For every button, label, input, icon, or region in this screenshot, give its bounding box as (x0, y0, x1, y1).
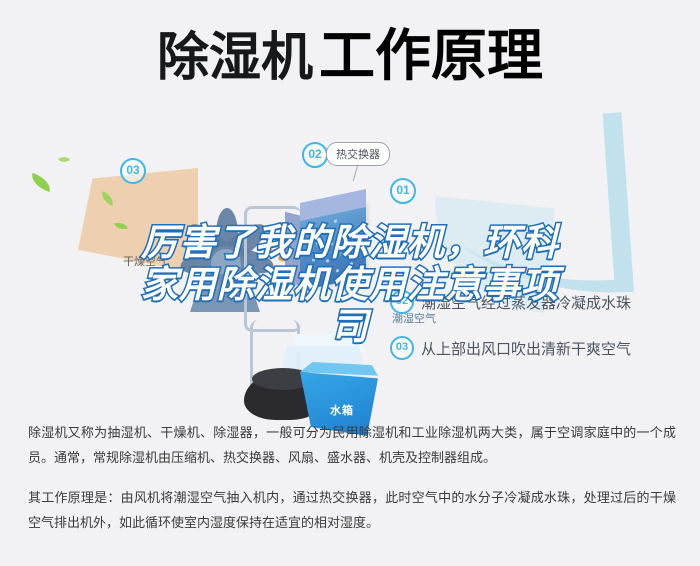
title-part-principle: 工作原理 (319, 28, 543, 84)
body-paragraph-1: 除湿机又称为抽湿机、干燥机、除湿器，一般可分为民用除湿机和工业除湿机两大类，属于… (28, 420, 676, 470)
legend-row: 03 从上部出风口吹出清新干爽空气 (390, 336, 690, 360)
legend-text: 潮湿空气经过蒸发器冷凝成水珠 (421, 292, 631, 313)
title-part-product: 除湿机 (157, 32, 313, 84)
legend-number: 03 (390, 336, 414, 360)
page-root: 除湿机工作原理 (0, 0, 700, 566)
water-tank-label: 水箱 (330, 402, 354, 418)
heat-exchanger-fins (306, 210, 362, 284)
illustration-stage: 水箱 03 02 01 热交换器 干燥空气 潮湿空气 02 潮湿空气经过蒸发器冷… (0, 110, 700, 400)
body-paragraph-2: 其工作原理是：由风机将潮湿空气抽入机内，通过热交换器，此时空气中的水分子冷凝成水… (28, 485, 676, 535)
leaf-icon (29, 173, 54, 192)
leaf-icon (58, 154, 70, 165)
marker-02: 02 (302, 142, 328, 168)
step-legend: 02 潮湿空气经过蒸发器冷凝成水珠 03 从上部出风口吹出清新干爽空气 (390, 290, 690, 382)
legend-text: 从上部出风口吹出清新干爽空气 (421, 338, 631, 359)
page-title: 除湿机工作原理 (0, 28, 700, 84)
dry-air-label: 干燥空气 (123, 253, 167, 269)
heat-exchanger-callout: 热交换器 (326, 142, 390, 166)
legend-row: 02 潮湿空气经过蒸发器冷凝成水珠 (390, 290, 690, 314)
marker-01: 01 (390, 178, 416, 204)
legend-number: 02 (390, 290, 414, 314)
marker-03: 03 (120, 158, 146, 184)
